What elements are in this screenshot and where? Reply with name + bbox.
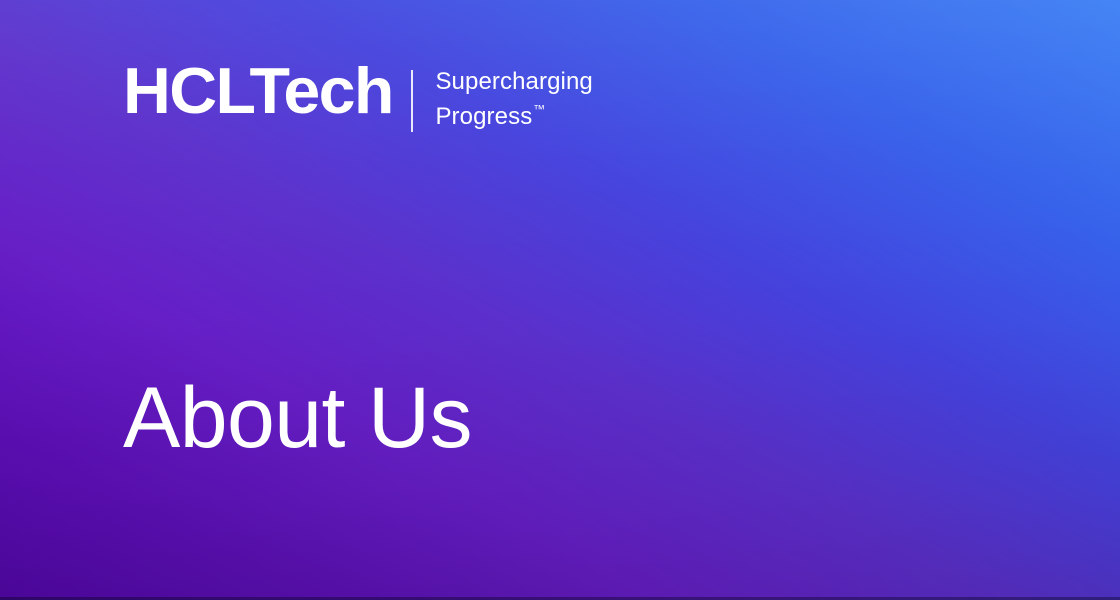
trademark-icon: ™: [533, 103, 545, 116]
tagline-line-two: Progress™: [435, 96, 592, 131]
tagline-line-one: Supercharging: [435, 68, 592, 96]
slide-canvas: HCLTech Supercharging Progress™ About Us: [0, 0, 1120, 600]
hcltech-logo-lockup[interactable]: HCLTech Supercharging Progress™: [123, 64, 593, 132]
logo-divider-icon: [411, 70, 413, 132]
tagline-progress-text: Progress: [435, 103, 532, 130]
logo-tagline: Supercharging Progress™: [435, 68, 592, 131]
hcltech-wordmark: HCLTech: [123, 64, 393, 119]
page-title: About Us: [123, 374, 472, 463]
